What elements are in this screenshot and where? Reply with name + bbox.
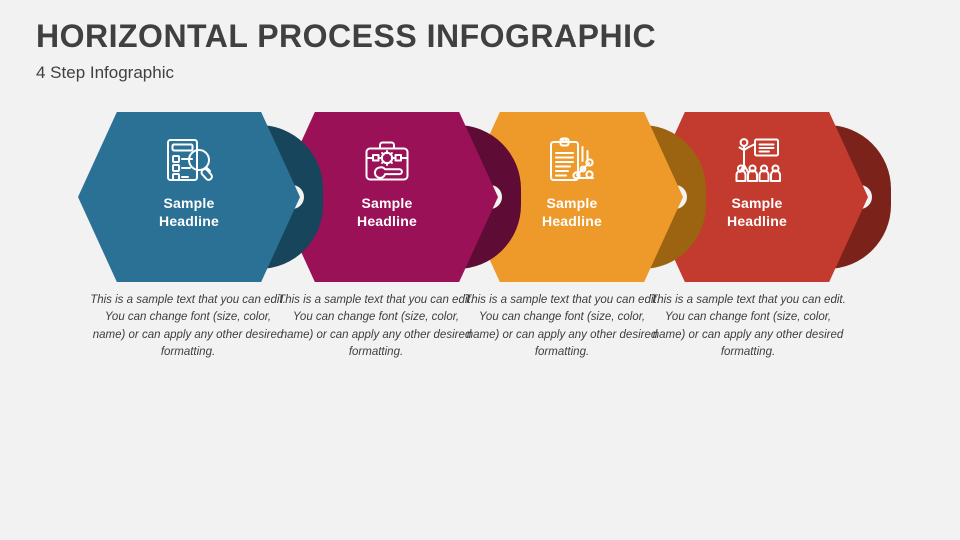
step-1-hexagon — [78, 112, 300, 282]
page-title: HORIZONTAL PROCESS INFOGRAPHIC — [36, 18, 916, 55]
header: HORIZONTAL PROCESS INFOGRAPHIC 4 Step In… — [36, 18, 916, 83]
step-3-description: This is a sample text that you can edit.… — [464, 292, 660, 362]
slide-canvas: HORIZONTAL PROCESS INFOGRAPHIC 4 Step In… — [0, 0, 960, 540]
page-subtitle: 4 Step Infographic — [36, 63, 916, 83]
step-descriptions: This is a sample text that you can edit.… — [0, 292, 960, 392]
process-step-1[interactable]: Sample Headline — [78, 112, 328, 282]
step-2-description: This is a sample text that you can edit.… — [278, 292, 474, 362]
step-1-description: This is a sample text that you can edit.… — [90, 292, 286, 362]
step-4-description: This is a sample text that you can edit.… — [650, 292, 846, 362]
process-steps-row: Sample Headline — [0, 112, 960, 282]
